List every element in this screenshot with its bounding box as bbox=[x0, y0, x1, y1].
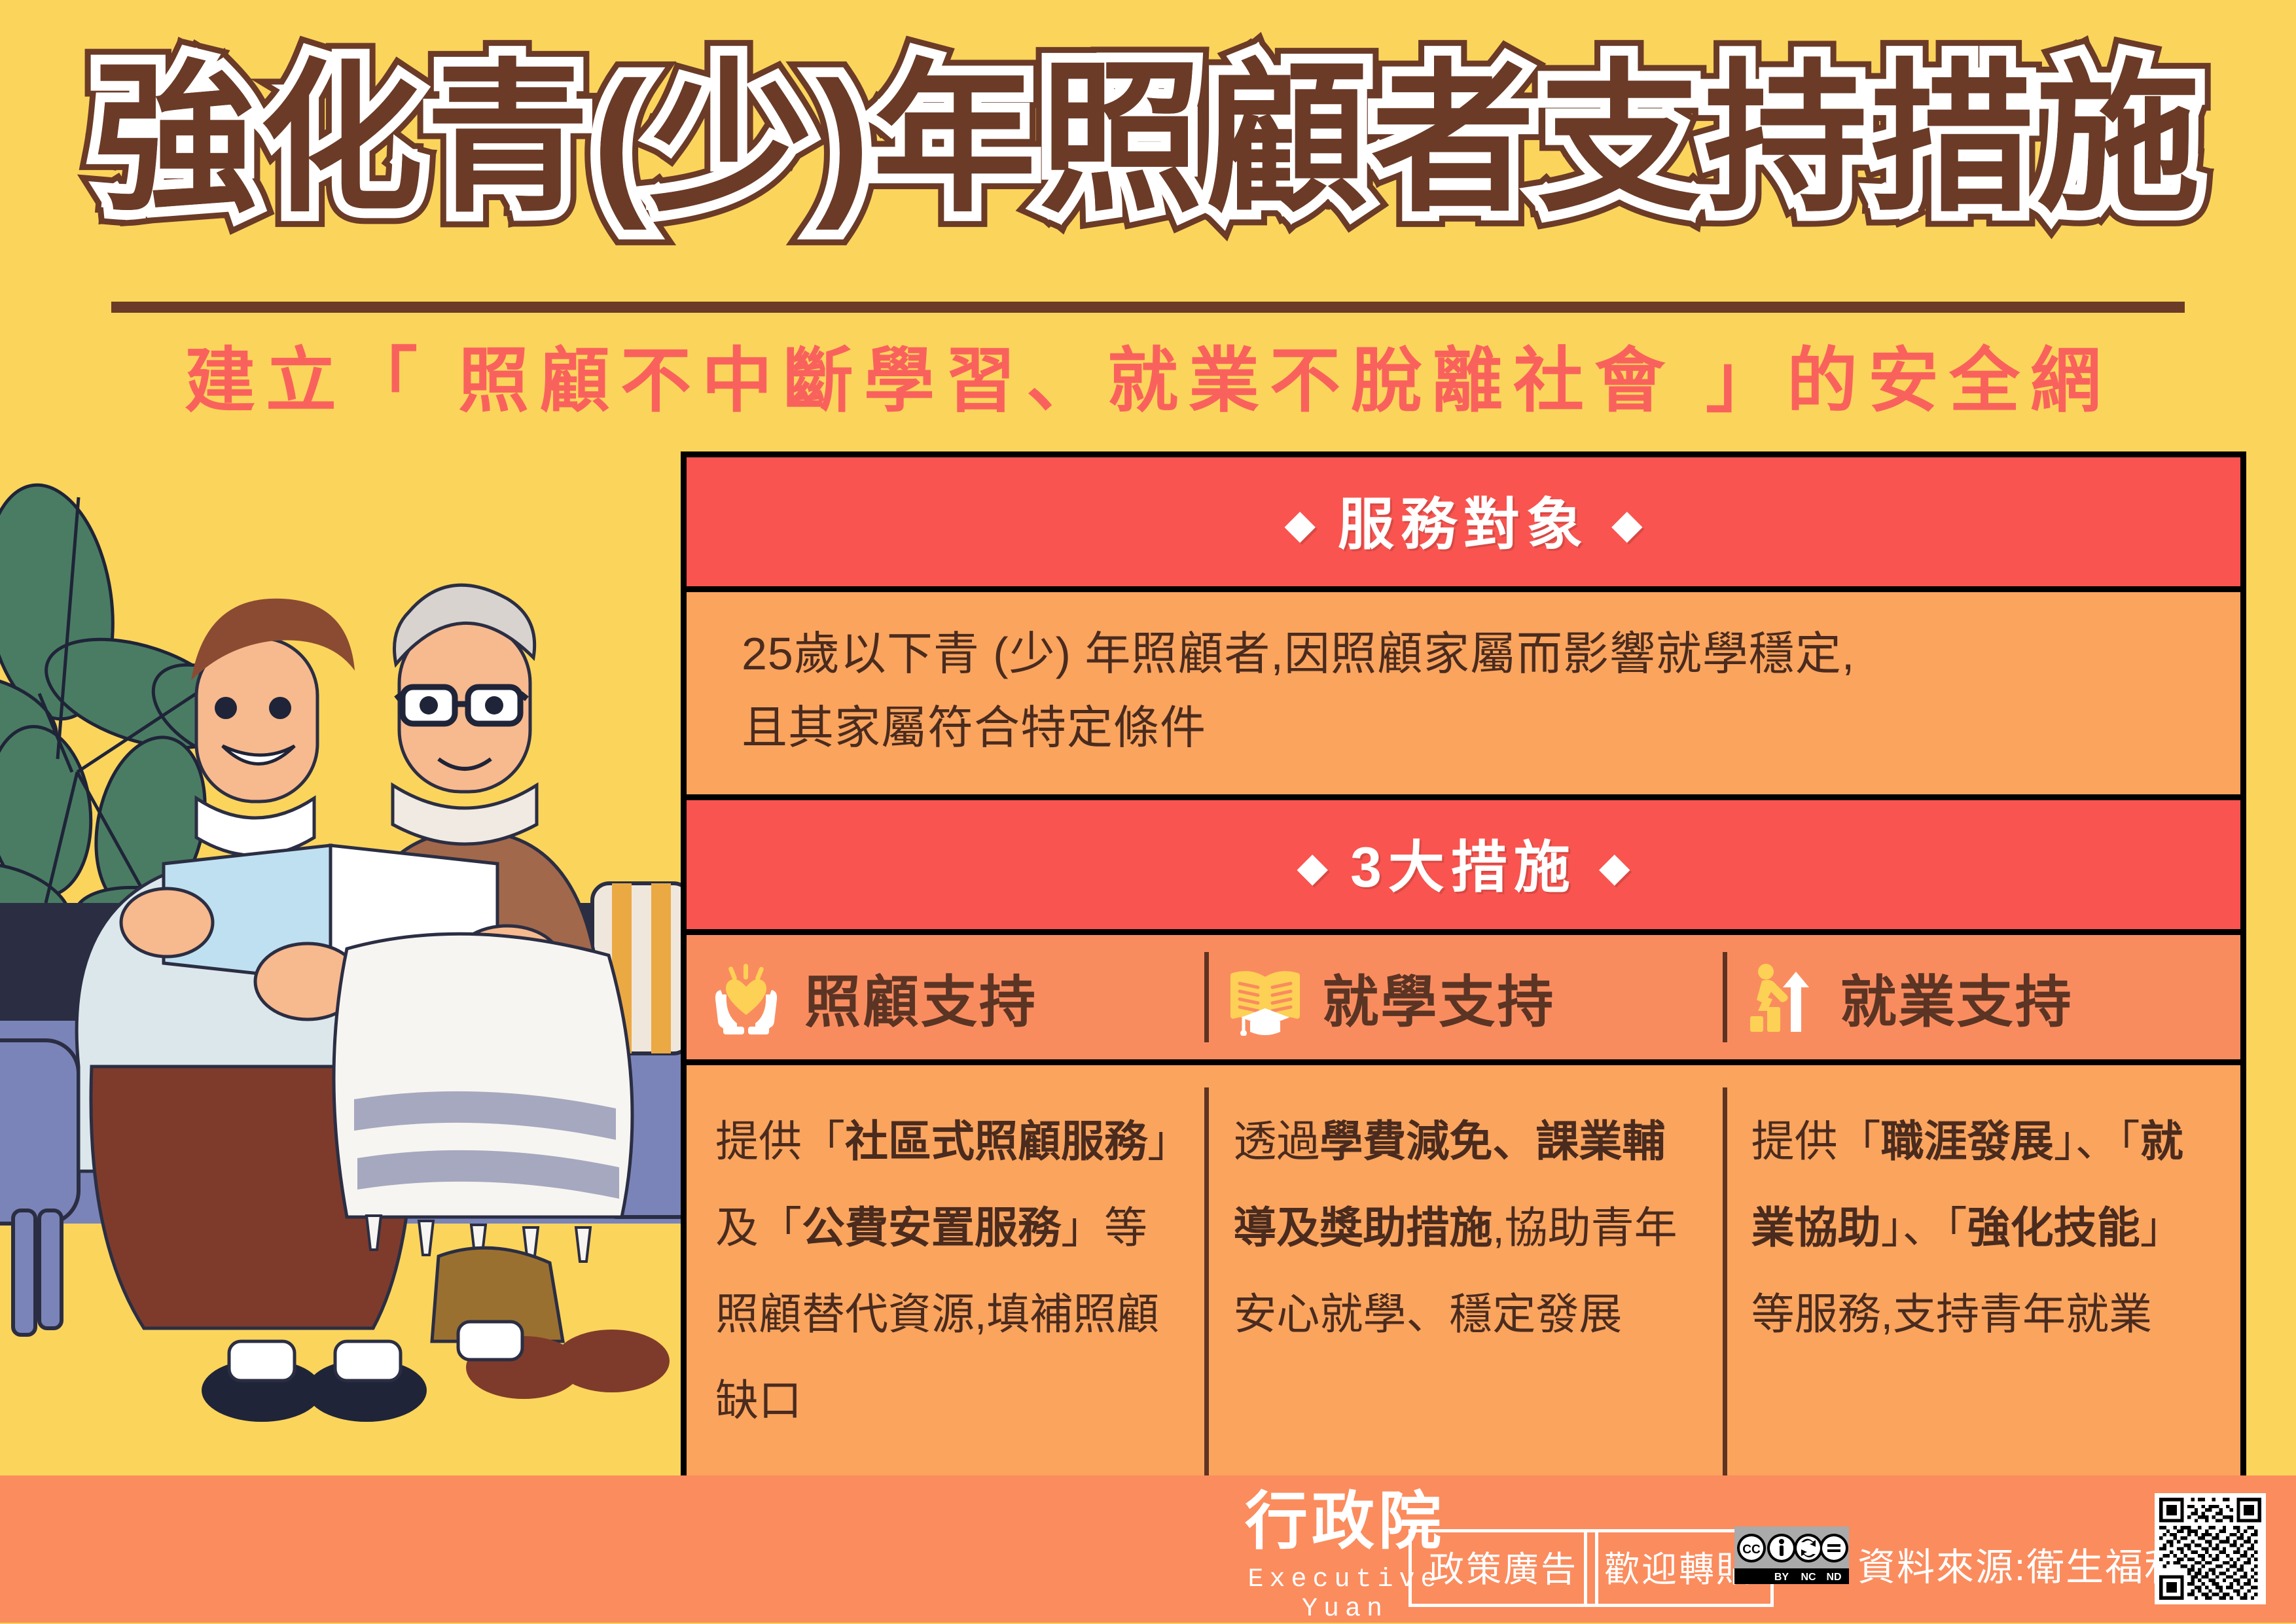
measure-header-care: 照顧支持 bbox=[687, 935, 1204, 1059]
measure-body-care: 提供「社區式照顧服務」及「公費安置服務」等照顧替代資源,填補照顧缺口 bbox=[687, 1065, 1204, 1510]
measure-body-employment: 提供「職涯發展」、「就業協助」、「強化技能」等服務,支持青年就業 bbox=[1723, 1065, 2240, 1510]
audience-body-line1: 25歲以下青 (少) 年照顧者,因照顧家屬而影響就學穩定, bbox=[742, 617, 2185, 691]
measures-heading-label: 3大措施 bbox=[1350, 836, 1577, 899]
body-text: 提供「 bbox=[1751, 1117, 1881, 1165]
diamond-right-icon: ◆ bbox=[1599, 845, 1630, 890]
cc-nd-label: ND bbox=[1826, 1572, 1841, 1583]
creative-commons-badge: CC BY NC ND bbox=[1734, 1527, 1849, 1587]
measure-body-education: 透過學費減免、課業輔導及獎助措施,協助青年安心就學、穩定發展 bbox=[1204, 1065, 1722, 1510]
striped-blanket bbox=[334, 934, 632, 1262]
emphasis-text: 社區式照顧服務 bbox=[845, 1117, 1147, 1165]
illustration-caregiver-scene bbox=[0, 406, 694, 1485]
measure-header-label: 就學支持 bbox=[1322, 956, 1555, 1038]
measure-header-education: 就學支持 bbox=[1204, 935, 1722, 1059]
policy-ad-badge: 政策廣告 bbox=[1408, 1529, 1598, 1607]
info-table: ◆服務對象◆ 25歲以下青 (少) 年照顧者,因照顧家屬而影響就學穩定, 且其家… bbox=[681, 451, 2246, 1516]
emphasis-text: 公費安置服務 bbox=[802, 1203, 1061, 1252]
measure-header-employment: 就業支持 bbox=[1723, 935, 2240, 1059]
diamond-right-icon: ◆ bbox=[1611, 502, 1643, 547]
hands-holding-heart-icon bbox=[709, 959, 786, 1036]
audience-body-line2: 且其家屬符合特定條件 bbox=[742, 691, 2185, 765]
body-text: 提供「 bbox=[715, 1117, 845, 1165]
measure-column-headers: 照顧支持 就學支持 bbox=[687, 935, 2240, 1065]
diamond-left-icon: ◆ bbox=[1284, 502, 1316, 547]
page-subtitle: 建立「 照顧不中斷學習、就業不脫離社會 」的安全網 bbox=[0, 324, 2296, 426]
audience-body: 25歲以下青 (少) 年照顧者,因照顧家屬而影響就學穩定, 且其家屬符合特定條件 bbox=[687, 592, 2240, 800]
diamond-left-icon: ◆ bbox=[1297, 845, 1328, 890]
audience-heading: ◆服務對象◆ bbox=[687, 457, 2240, 592]
open-book-graduation-cap-icon bbox=[1227, 959, 1304, 1036]
measure-header-label: 就業支持 bbox=[1840, 956, 2073, 1038]
audience-heading-label: 服務對象 bbox=[1338, 493, 1589, 556]
emphasis-text: 強化技能 bbox=[1967, 1203, 2140, 1252]
person-climbing-chart-icon bbox=[1745, 959, 1822, 1036]
measure-header-label: 照顧支持 bbox=[804, 956, 1037, 1038]
body-text: 」、「 bbox=[2054, 1117, 2140, 1165]
body-text: 透過 bbox=[1233, 1117, 1319, 1165]
measure-column-bodies: 提供「社區式照顧服務」及「公費安置服務」等照顧替代資源,填補照顧缺口 透過學費減… bbox=[687, 1065, 2240, 1510]
cc-mark: CC bbox=[1742, 1543, 1761, 1557]
cc-nc-label: NC bbox=[1801, 1572, 1816, 1583]
qr-code[interactable] bbox=[2155, 1493, 2266, 1604]
cc-by-label: BY bbox=[1774, 1572, 1789, 1583]
emphasis-text: 職涯發展 bbox=[1881, 1117, 2054, 1165]
page-title: 強化青(少)年照顧者支持措施 bbox=[0, 52, 2296, 226]
title-divider bbox=[111, 302, 2185, 313]
measures-heading: ◆3大措施◆ bbox=[687, 800, 2240, 935]
body-text: 」、「 bbox=[1881, 1203, 1967, 1252]
